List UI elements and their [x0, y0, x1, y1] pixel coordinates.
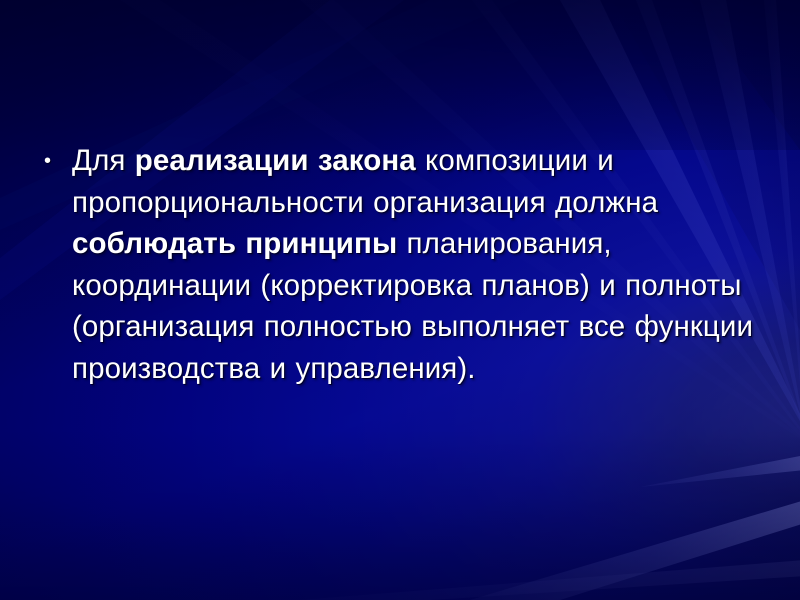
slide-body-text: Для реализации закона композиции и пропо…	[72, 140, 760, 389]
slide-content-placeholder: • Для реализации закона композиции и про…	[44, 140, 760, 389]
text-run: Для	[72, 144, 135, 177]
bullet-list-item: • Для реализации закона композиции и про…	[44, 140, 760, 389]
bullet-point-icon: •	[44, 140, 72, 171]
slide-bottom-shade	[0, 430, 800, 600]
text-run-bold: реализации закона	[135, 144, 416, 177]
text-run-bold: соблюдать принципы	[72, 227, 397, 260]
presentation-slide: • Для реализации закона композиции и про…	[0, 0, 800, 600]
slide-top-shade	[0, 0, 800, 150]
